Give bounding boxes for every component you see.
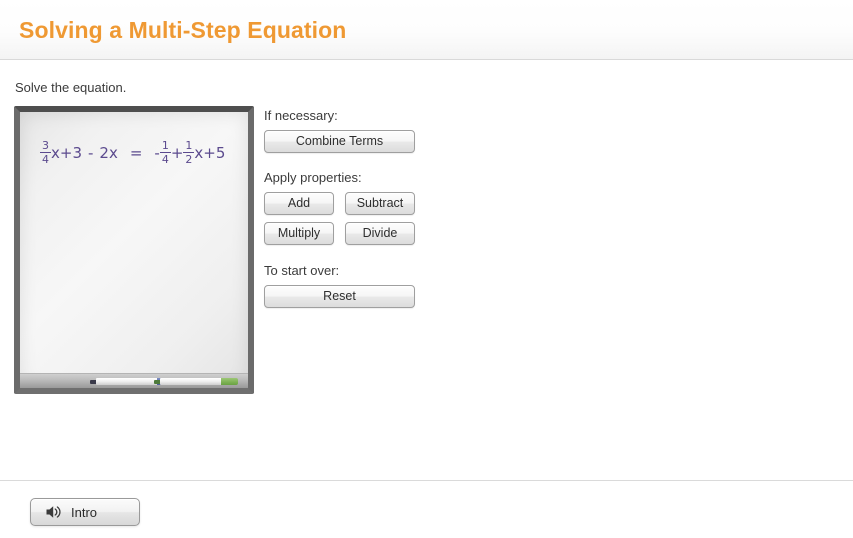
- instruction-text: Solve the equation.: [15, 80, 126, 95]
- multiply-button[interactable]: Multiply: [264, 222, 334, 245]
- fraction-denominator: 4: [162, 153, 169, 165]
- apply-properties-group: Apply properties: Add Subtract Multiply …: [264, 170, 434, 245]
- left-operator: -: [82, 144, 99, 162]
- property-button-row-1: Add Subtract: [264, 192, 434, 215]
- equation-left-side: 3 4 x+3 - 2x: [40, 140, 118, 165]
- reset-button[interactable]: Reset: [264, 285, 415, 308]
- property-button-row-2: Multiply Divide: [264, 222, 434, 245]
- controls-panel: If necessary: Combine Terms Apply proper…: [264, 108, 434, 326]
- reset-label: To start over:: [264, 263, 434, 278]
- right-after-fraction: x+5: [194, 144, 225, 162]
- fraction-denominator: 4: [42, 153, 49, 165]
- page-title: Solving a Multi-Step Equation: [19, 17, 346, 44]
- whiteboard-surface[interactable]: 3 4 x+3 - 2x = - 1 4 + 1: [20, 112, 248, 388]
- apply-properties-label: Apply properties:: [264, 170, 434, 185]
- add-button[interactable]: Add: [264, 192, 334, 215]
- marker-tray: [20, 373, 248, 388]
- intro-button-label: Intro: [71, 505, 97, 520]
- footer-divider: [0, 480, 853, 481]
- marker-cap: [221, 378, 238, 385]
- fraction-one-half: 1 2: [183, 140, 194, 165]
- whiteboard[interactable]: 3 4 x+3 - 2x = - 1 4 + 1: [14, 106, 254, 394]
- left-term: 2x: [99, 144, 117, 162]
- equals-sign: =: [118, 144, 155, 162]
- speaker-icon: [45, 504, 63, 520]
- page-header: Solving a Multi-Step Equation: [0, 0, 853, 60]
- marker-body: [160, 378, 222, 385]
- fraction-three-fourths: 3 4: [40, 140, 51, 165]
- right-operator: +: [171, 144, 184, 162]
- subtract-button[interactable]: Subtract: [345, 192, 415, 215]
- combine-terms-label: If necessary:: [264, 108, 434, 123]
- fraction-denominator: 2: [185, 153, 192, 165]
- combine-terms-group: If necessary: Combine Terms: [264, 108, 434, 153]
- fraction-one-fourth: 1 4: [160, 140, 171, 165]
- fraction-numerator: 1: [162, 140, 169, 152]
- fraction-numerator: 3: [42, 140, 49, 152]
- fraction-numerator: 1: [185, 140, 192, 152]
- marker-body: [96, 378, 158, 385]
- equation-right-side: - 1 4 + 1 2 x+5: [154, 140, 225, 165]
- left-after-fraction: x+3: [51, 144, 82, 162]
- reset-group: To start over: Reset: [264, 263, 434, 308]
- intro-button[interactable]: Intro: [30, 498, 140, 526]
- equation-display: 3 4 x+3 - 2x = - 1 4 + 1: [40, 140, 225, 165]
- combine-terms-button[interactable]: Combine Terms: [264, 130, 415, 153]
- divide-button[interactable]: Divide: [345, 222, 415, 245]
